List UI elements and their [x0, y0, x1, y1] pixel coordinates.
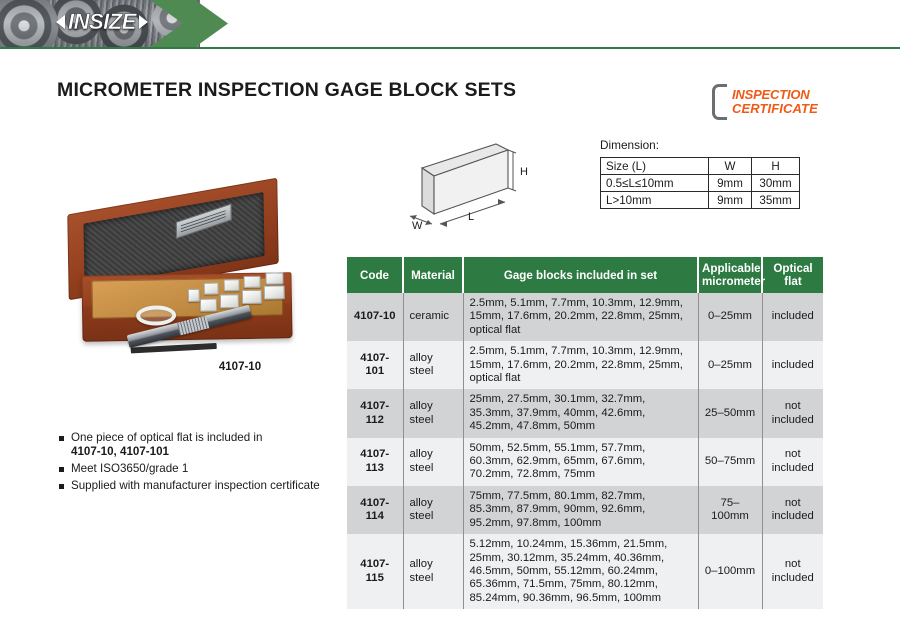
cell-material: alloy steel [403, 389, 463, 437]
cell-code: 4107-113 [347, 438, 403, 486]
gage-block [200, 298, 217, 311]
dimension-label: Dimension: [600, 138, 800, 152]
feature-text: Meet ISO3650/grade 1 [71, 462, 188, 475]
cell-optical-flat: not included [762, 486, 823, 534]
table-row: 4107-112 alloy steel 25mm, 27.5mm, 30.1m… [347, 389, 823, 437]
dim-cell-size: 0.5≤L≤10mm [601, 175, 709, 192]
col-header-code: Code [347, 257, 403, 293]
cell-material: alloy steel [403, 486, 463, 534]
cell-optical-flat: included [762, 341, 823, 389]
cell-optical-flat: not included [762, 438, 823, 486]
table-row: 4107-10 ceramic 2.5mm, 5.1mm, 7.7mm, 10.… [347, 293, 823, 341]
arrow-left-icon [56, 15, 65, 29]
gage-block [242, 290, 262, 304]
gage-block-diagram: H L W [392, 136, 552, 240]
dim-cell-h: 35mm [752, 192, 800, 209]
cell-material: alloy steel [403, 438, 463, 486]
product-table-section: Code Material Gage blocks included in se… [347, 257, 823, 609]
product-table: Code Material Gage blocks included in se… [347, 257, 823, 609]
gage-block [243, 276, 260, 288]
list-item: Supplied with manufacturer inspection ce… [57, 479, 347, 493]
cell-optical-flat: not included [762, 389, 823, 437]
photo-caption: 4107-10 [160, 361, 320, 373]
dim-header-size: Size (L) [601, 158, 709, 175]
gage-block [265, 272, 283, 284]
dim-cell-w: 9mm [709, 175, 752, 192]
dim-cell-w: 9mm [709, 192, 752, 209]
cell-micrometer: 0–25mm [698, 341, 762, 389]
gage-block [224, 279, 240, 291]
cell-code: 4107-114 [347, 486, 403, 534]
cell-material: ceramic [403, 293, 463, 341]
cell-gage-blocks: 2.5mm, 5.1mm, 7.7mm, 10.3mm, 12.9mm, 15m… [463, 341, 698, 389]
dim-header-w: W [709, 158, 752, 175]
product-photo [62, 196, 302, 356]
table-row: 4107-114 alloy steel 75mm, 77.5mm, 80.1m… [347, 486, 823, 534]
cell-micrometer: 50–75mm [698, 438, 762, 486]
cell-optical-flat: not included [762, 534, 823, 609]
cell-micrometer: 0–100mm [698, 534, 762, 609]
gage-block [188, 289, 200, 302]
cell-code: 4107-101 [347, 341, 403, 389]
table-header-row: Code Material Gage blocks included in se… [347, 257, 823, 293]
header-divider [0, 47, 900, 49]
table-row: Size (L) W H [601, 158, 800, 175]
cell-gage-blocks: 75mm, 77.5mm, 80.1mm, 82.7mm, 85.3mm, 87… [463, 486, 698, 534]
inspection-certificate-badge: INSPECTION CERTIFICATE [712, 82, 830, 124]
arrow-right-icon [139, 15, 148, 29]
gage-block [204, 282, 219, 294]
table-row: 4107-101 alloy steel 2.5mm, 5.1mm, 7.7mm… [347, 341, 823, 389]
cell-gage-blocks: 2.5mm, 5.1mm, 7.7mm, 10.3mm, 12.9mm, 15m… [463, 293, 698, 341]
cell-optical-flat: included [762, 293, 823, 341]
cell-gage-blocks: 5.12mm, 10.24mm, 15.36mm, 21.5mm, 25mm, … [463, 534, 698, 609]
table-row: 0.5≤L≤10mm 9mm 30mm [601, 175, 800, 192]
cell-code: 4107-10 [347, 293, 403, 341]
dimension-section: Dimension: Size (L) W H 0.5≤L≤10mm 9mm 3… [600, 138, 800, 209]
feature-text: Supplied with manufacturer inspection ce… [71, 479, 320, 492]
cell-gage-blocks: 50mm, 52.5mm, 55.1mm, 57.7mm, 60.3mm, 62… [463, 438, 698, 486]
list-item: Meet ISO3650/grade 1 [57, 462, 347, 476]
col-header-optical-flat: Optical flat [762, 257, 823, 293]
certificate-text: INSPECTION CERTIFICATE [732, 88, 818, 115]
list-item: One piece of optical flat is included in… [57, 431, 347, 459]
cell-code: 4107-112 [347, 389, 403, 437]
optical-flat [136, 305, 176, 326]
cell-micrometer: 0–25mm [698, 293, 762, 341]
insize-logo: INSIZE [56, 12, 148, 32]
cell-micrometer: 25–50mm [698, 389, 762, 437]
brand-wordmark: INSIZE [67, 12, 137, 32]
col-header-material: Material [403, 257, 463, 293]
col-header-gage-blocks: Gage blocks included in set [463, 257, 698, 293]
page-header: INSIZE [0, 0, 900, 50]
table-row: 4107-113 alloy steel 50mm, 52.5mm, 55.1m… [347, 438, 823, 486]
table-row: L>10mm 9mm 35mm [601, 192, 800, 209]
cell-micrometer: 75–100mm [698, 486, 762, 534]
label-h: H [520, 166, 528, 178]
gage-block-tray [92, 277, 284, 318]
certificate-line-1: INSPECTION [732, 88, 818, 102]
feature-models: 4107-10, 4107-101 [71, 445, 169, 458]
dimension-table: Size (L) W H 0.5≤L≤10mm 9mm 30mm L>10mm … [600, 157, 800, 209]
cell-material: alloy steel [403, 534, 463, 609]
page-title: MICROMETER INSPECTION GAGE BLOCK SETS [57, 79, 516, 102]
gage-block [220, 294, 239, 308]
certificate-line-2: CERTIFICATE [732, 102, 818, 116]
cell-gage-blocks: 25mm, 27.5mm, 30.1mm, 32.7mm, 35.3mm, 37… [463, 389, 698, 437]
dim-cell-size: L>10mm [601, 192, 709, 209]
cell-material: alloy steel [403, 341, 463, 389]
label-l: L [468, 211, 474, 223]
table-row: 4107-115 alloy steel 5.12mm, 10.24mm, 15… [347, 534, 823, 609]
col-header-applicable-micrometer: Applicable micrometer [698, 257, 762, 293]
gage-block [264, 285, 285, 299]
block-diagram-svg: H L W [392, 136, 552, 240]
cell-code: 4107-115 [347, 534, 403, 609]
dim-cell-h: 30mm [752, 175, 800, 192]
case-body [81, 272, 292, 342]
feature-list: One piece of optical flat is included in… [57, 431, 347, 495]
dim-header-h: H [752, 158, 800, 175]
feature-text: One piece of optical flat is included in [71, 431, 262, 444]
catalog-page: INSIZE MICROMETER INSPECTION GAGE BLOCK … [0, 0, 900, 618]
label-w: W [412, 220, 423, 232]
